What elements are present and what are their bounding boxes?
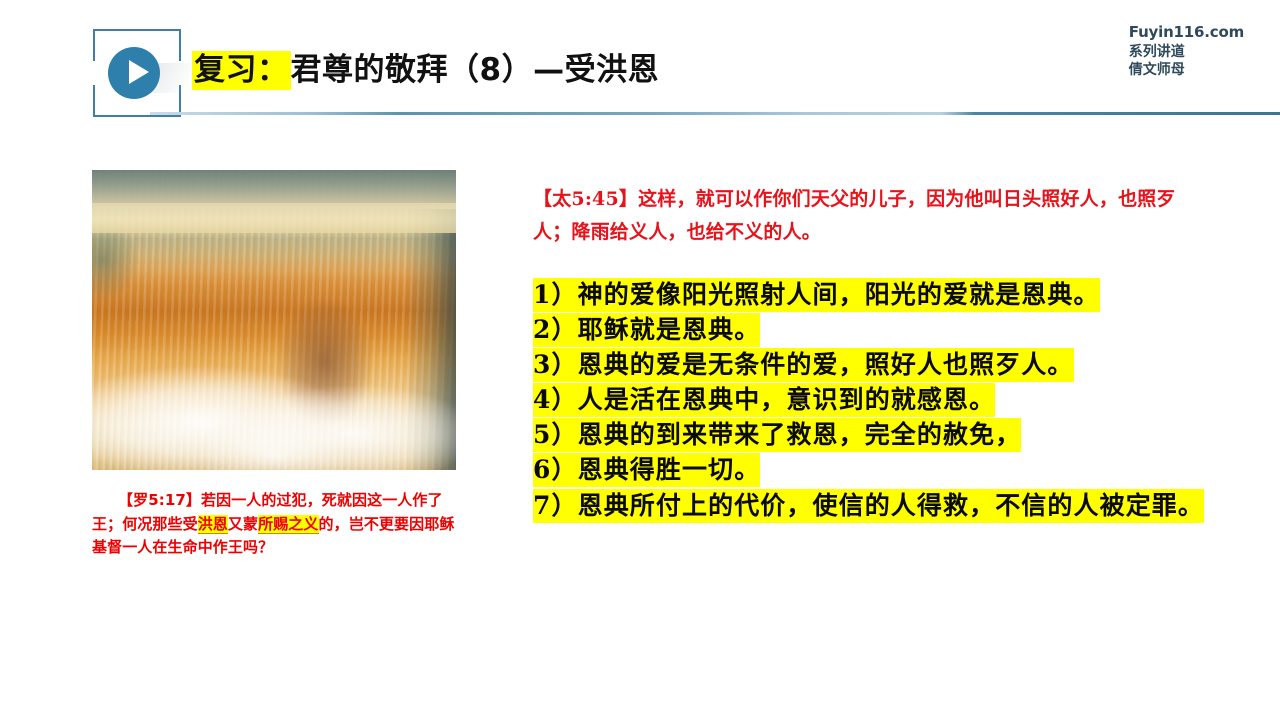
brand-block: Fuyin116.com 系列讲道 倩文师母 — [1129, 23, 1244, 80]
brand-series: 系列讲道 — [1129, 43, 1244, 61]
list-item: 3）恩典的爱是无条件的爱，照好人也照歹人。 — [533, 349, 1233, 381]
page-title-rest: 君尊的敬拜（8）—受洪恩 — [291, 52, 660, 88]
slide-canvas: 复习：君尊的敬拜（8）—受洪恩 Fuyin116.com 系列讲道 倩文师母 【… — [0, 0, 1280, 720]
list-item-text: 1）神的爱像阳光照射人间，阳光的爱就是恩典。 — [533, 278, 1100, 312]
page-title-highlight: 复习： — [192, 51, 291, 90]
list-item: 1）神的爱像阳光照射人间，阳光的爱就是恩典。 — [533, 279, 1233, 311]
caption-middle: 又蒙 — [228, 515, 258, 533]
list-item: 2）耶稣就是恩典。 — [533, 314, 1233, 346]
caption-highlight-hongen: 洪恩 — [198, 515, 228, 534]
waterfall-horizon — [92, 203, 456, 233]
list-item-text: 2）耶稣就是恩典。 — [533, 313, 760, 347]
list-item: 7）恩典所付上的代价，使信的人得救，不信的人被定罪。 — [533, 489, 1233, 523]
list-item-text: 3）恩典的爱是无条件的爱，照好人也照歹人。 — [533, 348, 1074, 382]
play-button-icon[interactable] — [93, 29, 181, 117]
list-item: 6）恩典得胜一切。 — [533, 454, 1233, 486]
list-item-text: 6）恩典得胜一切。 — [533, 453, 760, 487]
points-list: 1）神的爱像阳光照射人间，阳光的爱就是恩典。 2）耶稣就是恩典。 3）恩典的爱是… — [533, 279, 1233, 526]
page-title: 复习：君尊的敬拜（8）—受洪恩 — [192, 44, 659, 89]
header-divider — [150, 112, 1280, 115]
play-triangle-glyph — [129, 60, 149, 84]
list-item: 4）人是活在恩典中，意识到的就感恩。 — [533, 384, 1233, 416]
caption-highlight-suocizhiyi: 所赐之义 — [258, 515, 318, 534]
waterfall-image — [92, 170, 456, 470]
scripture-verse: 【太5:45】这样，就可以作你们天父的儿子，因为他叫日头照好人，也照歹人；降雨给… — [533, 183, 1213, 248]
list-item-text: 7）恩典所付上的代价，使信的人得救，不信的人被定罪。 — [533, 489, 1204, 523]
frame-edge-top — [121, 29, 153, 31]
list-item-text: 4）人是活在恩典中，意识到的就感恩。 — [533, 383, 995, 417]
image-caption: 【罗5:17】若因一人的过犯，死就因这一人作了王；何况那些受洪恩又蒙所赐之义的，… — [92, 489, 460, 560]
brand-site: Fuyin116.com — [1129, 23, 1244, 43]
list-item: 5）恩典的到来带来了救恩，完全的赦免， — [533, 419, 1233, 451]
brand-speaker: 倩文师母 — [1129, 61, 1244, 79]
frame-edge-bottom — [121, 115, 153, 117]
list-item-text: 5）恩典的到来带来了救恩，完全的赦免， — [533, 418, 1021, 452]
